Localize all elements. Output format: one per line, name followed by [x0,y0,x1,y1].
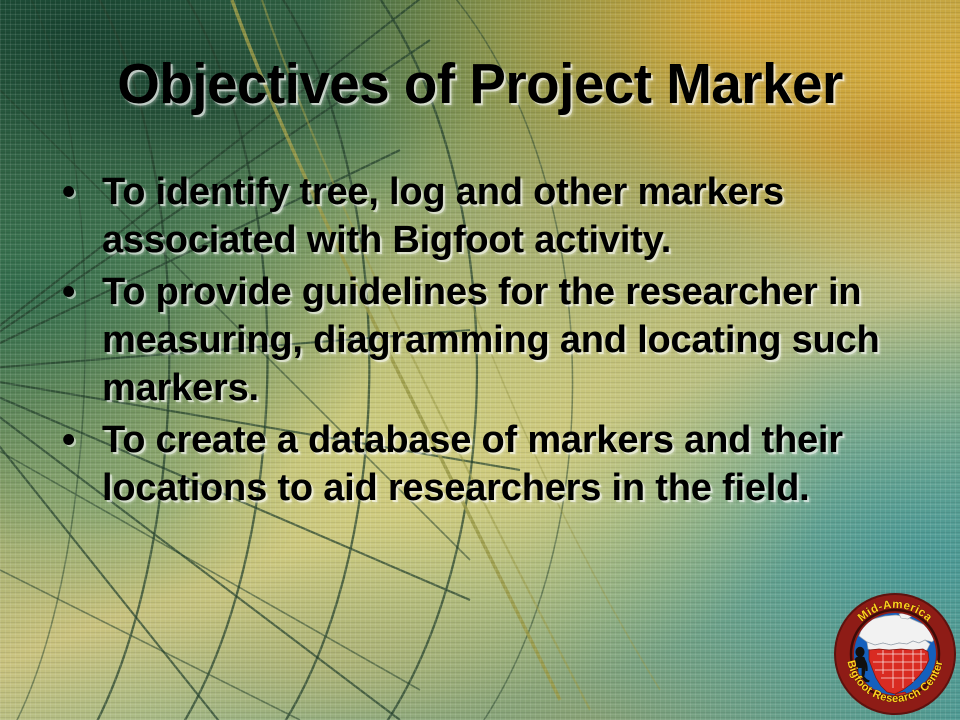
presentation-slide: Objectives of Project Marker • To identi… [0,0,960,720]
bullet-list: • To identify tree, log and other marker… [56,168,900,516]
bullet-text-1: To identify tree, log and other markers … [102,168,900,264]
bullet-text-3: To create a database of markers and thei… [102,416,900,512]
bullet-marker-icon: • [56,268,102,316]
bullet-marker-icon: • [56,168,102,216]
slide-title: Objectives of Project Marker [19,55,941,114]
mid-america-bigfoot-research-center-logo: Mid-America Bigfoot Research Center [833,592,957,716]
slide-content: Objectives of Project Marker • To identi… [0,0,960,720]
bullet-item-1: • To identify tree, log and other marker… [56,168,900,264]
bullet-item-3: • To create a database of markers and th… [56,416,900,512]
bullet-text-2: To provide guidelines for the researcher… [102,268,900,412]
bullet-item-2: • To provide guidelines for the research… [56,268,900,412]
bullet-marker-icon: • [56,416,102,464]
